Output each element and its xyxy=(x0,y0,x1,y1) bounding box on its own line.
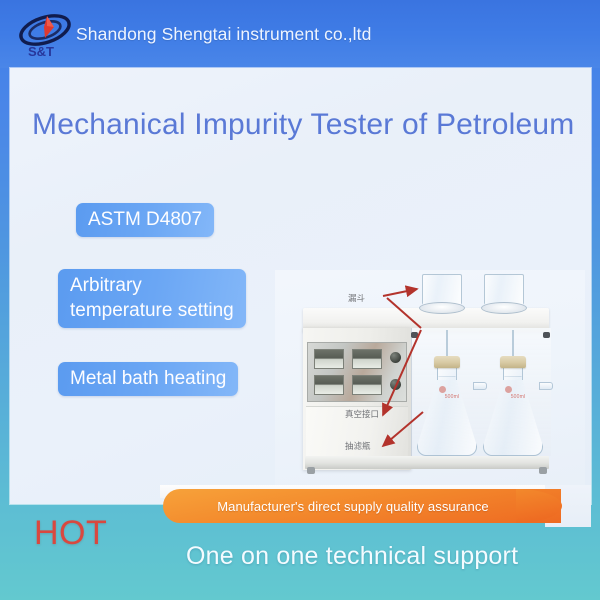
arrow-to-funnel xyxy=(383,289,417,296)
page-title: Mechanical Impurity Tester of Petroleum xyxy=(32,108,574,142)
header-banner: S&T Shandong Shengtai instrument co.,ltd xyxy=(0,0,600,68)
swirl-ellipse-needle-logo-icon: S&T xyxy=(14,8,76,60)
product-photo: 500ml 500ml 漏斗 真空接口 抽滤瓶 xyxy=(275,270,585,502)
support-tagline: One on one technical support xyxy=(186,542,518,571)
callout-arrows xyxy=(275,270,585,502)
callout-label-funnel: 漏斗 xyxy=(348,292,365,304)
company-logo: S&T xyxy=(14,8,76,60)
arrow-to-vacuum-port xyxy=(383,330,421,415)
feature-badge-list: ASTM D4807 Arbitrary temperature setting… xyxy=(58,203,288,396)
badge-line-2: temperature setting xyxy=(70,300,234,321)
badge-temperature-setting: Arbitrary temperature setting xyxy=(58,269,246,328)
badge-line-1: Arbitrary xyxy=(70,275,142,296)
ribbon-text: Manufacturer's direct supply quality ass… xyxy=(217,499,489,514)
ribbon-body: Manufacturer's direct supply quality ass… xyxy=(163,489,561,523)
callout-label-vacuum-port: 真空接口 xyxy=(345,408,379,420)
arrow-to-filter-flask xyxy=(383,412,423,446)
callout-label-filter-bottle: 抽滤瓶 xyxy=(345,440,371,452)
content-panel: Mechanical Impurity Tester of Petroleum … xyxy=(10,68,591,504)
company-name: Shandong Shengtai instrument co.,ltd xyxy=(76,23,371,45)
hot-badge: HOT xyxy=(34,514,107,553)
badge-astm-standard: ASTM D4807 xyxy=(76,203,214,237)
badge-metal-bath-heating: Metal bath heating xyxy=(58,362,238,396)
logo-text: S&T xyxy=(28,44,54,59)
arrow-leader-line xyxy=(387,298,421,328)
